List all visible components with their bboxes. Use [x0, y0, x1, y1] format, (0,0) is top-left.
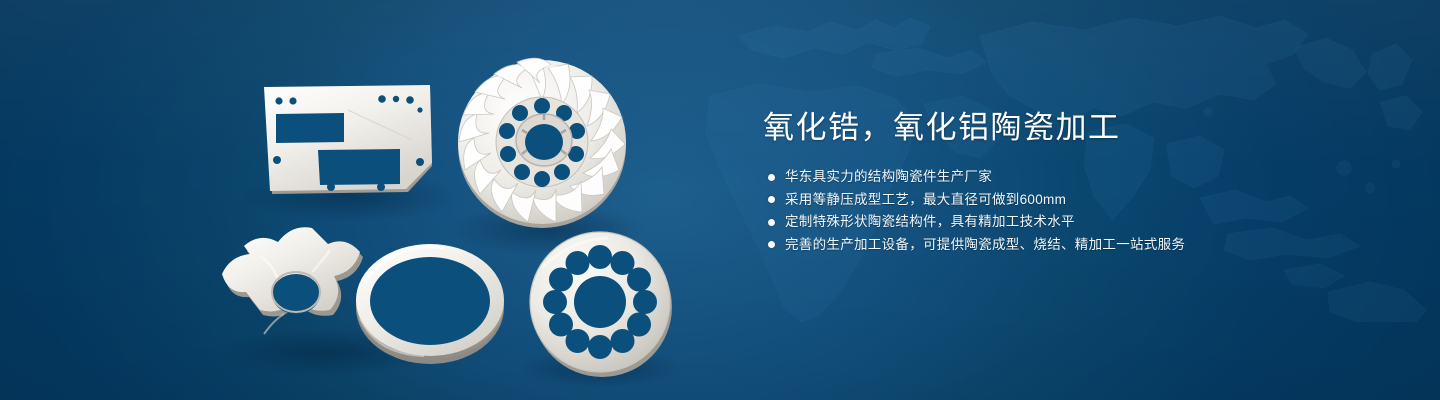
bullet-dot-icon [768, 219, 775, 226]
banner-text-block: 氧化锆，氧化铝陶瓷加工 华东具实力的结构陶瓷件生产厂家 采用等静压成型工艺，最大… [763, 108, 1323, 256]
list-item: 完善的生产加工设备，可提供陶瓷成型、烧结、精加工一站式服务 [763, 234, 1323, 257]
ceramic-impeller-part [458, 58, 626, 228]
ceramic-cross-part [222, 227, 363, 334]
list-item: 定制特殊形状陶瓷结构件，具有精加工技术水平 [763, 211, 1323, 234]
bullet-dot-icon [768, 174, 775, 181]
bullet-dot-icon [768, 196, 775, 203]
list-item-label: 华东具实力的结构陶瓷件生产厂家 [785, 166, 992, 189]
page-title: 氧化锆，氧化铝陶瓷加工 [763, 108, 1323, 148]
list-item: 采用等静压成型工艺，最大直径可做到600mm [763, 189, 1323, 212]
feature-list: 华东具实力的结构陶瓷件生产厂家 采用等静压成型工艺，最大直径可做到600mm 定… [763, 166, 1323, 256]
ceramic-perforated-disc-part [530, 232, 672, 377]
list-item-label: 完善的生产加工设备，可提供陶瓷成型、烧结、精加工一站式服务 [785, 234, 1185, 257]
hero-banner: 氧化锆，氧化铝陶瓷加工 华东具实力的结构陶瓷件生产厂家 采用等静压成型工艺，最大… [0, 0, 1440, 400]
list-item: 华东具实力的结构陶瓷件生产厂家 [763, 166, 1323, 189]
ceramic-ring-part [356, 244, 504, 364]
bullet-dot-icon [768, 241, 775, 248]
list-item-label: 定制特殊形状陶瓷结构件，具有精加工技术水平 [785, 211, 1075, 234]
ceramic-plate-part [264, 85, 432, 194]
ceramic-parts-photo [0, 0, 740, 400]
list-item-label: 采用等静压成型工艺，最大直径可做到600mm [785, 189, 1066, 212]
